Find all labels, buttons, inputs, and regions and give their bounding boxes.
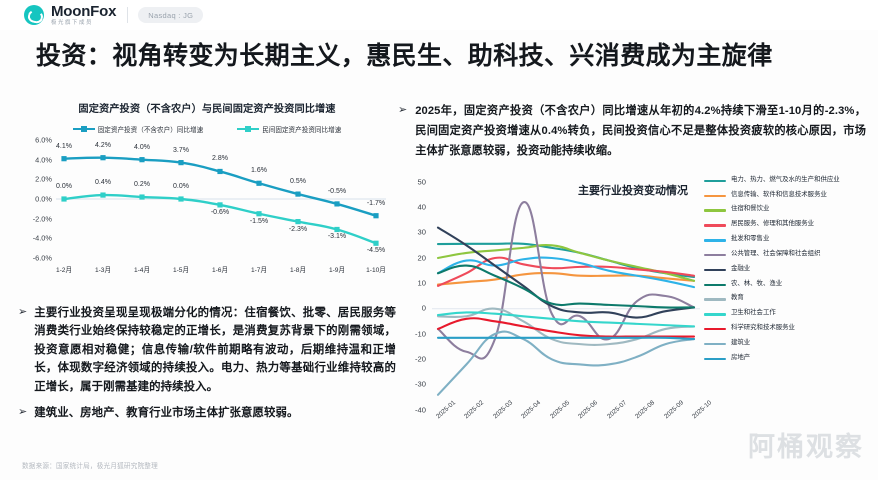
right-legend-item: 金融业 [704, 265, 870, 274]
left-chart-plot: 6.0%4.0%2.0%0.0%-2.0%-4.0%-6.0%4.1%4.2%4… [18, 140, 396, 280]
left-chart-data-label: -1.7% [367, 200, 385, 207]
right-chart-legend: 电力、热力、燃气及水的生产和供应业信息传输、软件和信息技术服务业住宿和餐饮业居民… [704, 176, 870, 369]
legend-line-icon [704, 180, 726, 182]
legend-label: 科学研究和技术服务业 [731, 324, 795, 333]
right-chart: 主要行业投资变动情况 电力、热力、燃气及水的生产和供应业信息传输、软件和信息技术… [398, 176, 866, 444]
left-column: 固定资产投资（不含农户）与民间固定资产投资同比增速 固定资产投资（不含农户）同比… [18, 100, 396, 431]
legend-label: 建筑业 [731, 339, 750, 348]
legend-label: 金融业 [731, 265, 750, 274]
left-chart-title: 固定资产投资（不含农户）与民间固定资产投资同比增速 [18, 100, 396, 115]
bullet-item: ➢主要行业投资呈现呈现极端分化的情况：住宿餐饮、批零、居民服务等消费类行业始终保… [18, 304, 396, 396]
right-legend-item: 住宿和餐饮业 [704, 205, 870, 214]
right-legend-item: 居民服务、修理和其他服务业 [704, 220, 870, 229]
legend-label: 卫生和社会工作 [731, 309, 776, 318]
right-legend-item: 公共管理、社会保障和社会组织 [704, 250, 870, 259]
bullet-text: 2025年，固定资产投资（不含农户）同比增速从年初的4.2%持续下滑至1-10月… [415, 102, 866, 162]
legend-label: 民间固定资产投资同比增速 [262, 124, 341, 134]
bullet-arrow-icon: ➢ [18, 404, 27, 422]
legend-label: 电力、热力、燃气及水的生产和供应业 [731, 176, 840, 185]
left-chart-data-label: 0.2% [134, 181, 150, 188]
left-chart-x-tick: 1-3月 [95, 264, 111, 274]
left-chart-data-label: 0.0% [173, 183, 189, 190]
left-chart-data-label: 2.8% [212, 155, 228, 162]
legend-label: 居民服务、修理和其他服务业 [731, 220, 814, 229]
legend-line-icon [704, 343, 726, 345]
left-chart-x-tick: 1-10月 [366, 264, 386, 274]
left-chart-y-tick: 2.0% [18, 175, 52, 184]
bullet-item: ➢建筑业、房地产、教育行业市场主体扩张意愿较弱。 [18, 404, 396, 422]
left-chart-y-tick: 6.0% [18, 136, 52, 145]
legend-line-icon [704, 209, 726, 211]
left-chart-data-label: 1.6% [251, 167, 267, 174]
left-legend-item: 民间固定资产投资同比增速 [237, 124, 341, 134]
left-chart-x-tick: 1-5月 [173, 264, 189, 274]
bullet-text: 主要行业投资呈现呈现极端分化的情况：住宿餐饮、批零、居民服务等消费类行业始终保持… [34, 304, 396, 396]
left-chart-y-tick: 4.0% [18, 155, 52, 164]
right-chart-y-tick: 0 [398, 304, 426, 313]
left-chart-x-tick: 1-4月 [134, 264, 150, 274]
brand-bar: MoonFox 极光旗下成员 Nasdaq : JG [0, 0, 878, 30]
right-chart-y-tick: 30 [398, 228, 426, 237]
right-chart-y-tick: 10 [398, 279, 426, 288]
left-chart-data-label: 0.0% [56, 183, 72, 190]
page-title: 投资：视角转变为长期主义，惠民生、助科技、兴消费成为主旋律 [36, 36, 846, 72]
left-chart-data-label: -4.5% [367, 247, 385, 254]
left-chart-y-tick: -4.0% [18, 234, 52, 243]
legend-line-icon [704, 358, 726, 360]
legend-label: 固定资产投资（不含农户）同比增速 [98, 124, 204, 134]
left-chart-legend: 固定资产投资（不含农户）同比增速民间固定资产投资同比增速 [18, 124, 396, 134]
right-chart-y-tick: 50 [398, 177, 426, 186]
right-legend-item: 科学研究和技术服务业 [704, 324, 870, 333]
left-chart-data-label: 0.4% [95, 179, 111, 186]
left-chart-data-label: -1.5% [250, 218, 268, 225]
moonfox-logo-icon [24, 5, 44, 25]
right-legend-item: 农、林、牧、渔业 [704, 280, 870, 289]
slide-canvas: MoonFox 极光旗下成员 Nasdaq : JG 投资：视角转变为长期主义，… [0, 0, 878, 480]
right-chart-y-tick: -20 [398, 355, 426, 364]
left-chart-data-label: 4.1% [56, 143, 72, 150]
left-chart-data-label: 3.7% [173, 147, 189, 154]
legend-label: 教育 [731, 294, 744, 303]
legend-line-icon [73, 128, 95, 130]
legend-line-icon [704, 195, 726, 197]
legend-label: 批发和零售业 [731, 235, 769, 244]
legend-line-icon [704, 313, 726, 315]
left-chart-data-label: 4.0% [134, 144, 150, 151]
legend-label: 房地产 [731, 354, 750, 363]
right-chart-y-tick: -40 [398, 405, 426, 414]
right-chart-y-tick: -10 [398, 329, 426, 338]
right-column: ➢2025年，固定资产投资（不含农户）同比增速从年初的4.2%持续下滑至1-10… [398, 102, 866, 444]
left-legend-item: 固定资产投资（不含农户）同比增速 [73, 124, 204, 134]
brand-wordmark: MoonFox 极光旗下成员 [51, 4, 116, 26]
right-legend-item: 电力、热力、燃气及水的生产和供应业 [704, 176, 870, 185]
legend-label: 住宿和餐饮业 [731, 205, 769, 214]
left-chart-x-tick: 1-7月 [251, 264, 267, 274]
right-chart-y-tick: 20 [398, 253, 426, 262]
legend-line-icon [704, 284, 726, 286]
brand-name: MoonFox [51, 4, 116, 19]
right-chart-y-tick: -30 [398, 380, 426, 389]
legend-label: 信息传输、软件和信息技术服务业 [731, 191, 827, 200]
left-chart-data-label: -0.6% [211, 209, 229, 216]
data-source-footer: 数据来源：国家统计局，极光月狐研究院整理 [22, 460, 158, 470]
left-chart-data-label: -0.5% [328, 188, 346, 195]
nasdaq-ticker-badge: Nasdaq : JG [138, 7, 203, 23]
brand-subtitle: 极光旗下成员 [51, 21, 116, 26]
right-legend-item: 教育 [704, 294, 870, 303]
legend-line-icon [704, 224, 726, 226]
left-chart-y-tick: -6.0% [18, 254, 52, 263]
bullet-text: 建筑业、房地产、教育行业市场主体扩张意愿较弱。 [34, 404, 298, 422]
right-legend-item: 卫生和社会工作 [704, 309, 870, 318]
left-bullet-list: ➢主要行业投资呈现呈现极端分化的情况：住宿餐饮、批零、居民服务等消费类行业始终保… [18, 304, 396, 423]
legend-line-icon [237, 128, 259, 130]
legend-line-icon [704, 254, 726, 256]
left-chart-x-tick: 1-2月 [56, 264, 72, 274]
left-chart-y-tick: -2.0% [18, 214, 52, 223]
left-chart-y-tick: 0.0% [18, 195, 52, 204]
right-bullet-list: ➢2025年，固定资产投资（不含农户）同比增速从年初的4.2%持续下滑至1-10… [398, 102, 866, 162]
right-legend-item: 信息传输、软件和信息技术服务业 [704, 191, 870, 200]
left-chart-data-label: 0.5% [290, 178, 306, 185]
left-chart-x-tick: 1-6月 [212, 264, 228, 274]
legend-line-icon [704, 328, 726, 330]
left-chart-x-tick: 1-9月 [329, 264, 345, 274]
bullet-arrow-icon: ➢ [398, 102, 407, 162]
legend-line-icon [704, 239, 726, 241]
right-chart-y-tick: 40 [398, 203, 426, 212]
right-legend-item: 建筑业 [704, 339, 870, 348]
left-chart-data-label: -2.3% [289, 226, 307, 233]
left-chart-data-label: 4.2% [95, 142, 111, 149]
legend-line-icon [704, 298, 726, 300]
left-chart-data-label: -3.1% [328, 233, 346, 240]
right-legend-item: 房地产 [704, 354, 870, 363]
legend-label: 公共管理、社会保障和社会组织 [731, 250, 820, 259]
legend-label: 农、林、牧、渔业 [731, 280, 782, 289]
legend-line-icon [704, 269, 726, 271]
brand-divider [127, 7, 128, 23]
right-legend-item: 批发和零售业 [704, 235, 870, 244]
left-chart-x-tick: 1-8月 [290, 264, 306, 274]
bullet-arrow-icon: ➢ [18, 304, 27, 396]
